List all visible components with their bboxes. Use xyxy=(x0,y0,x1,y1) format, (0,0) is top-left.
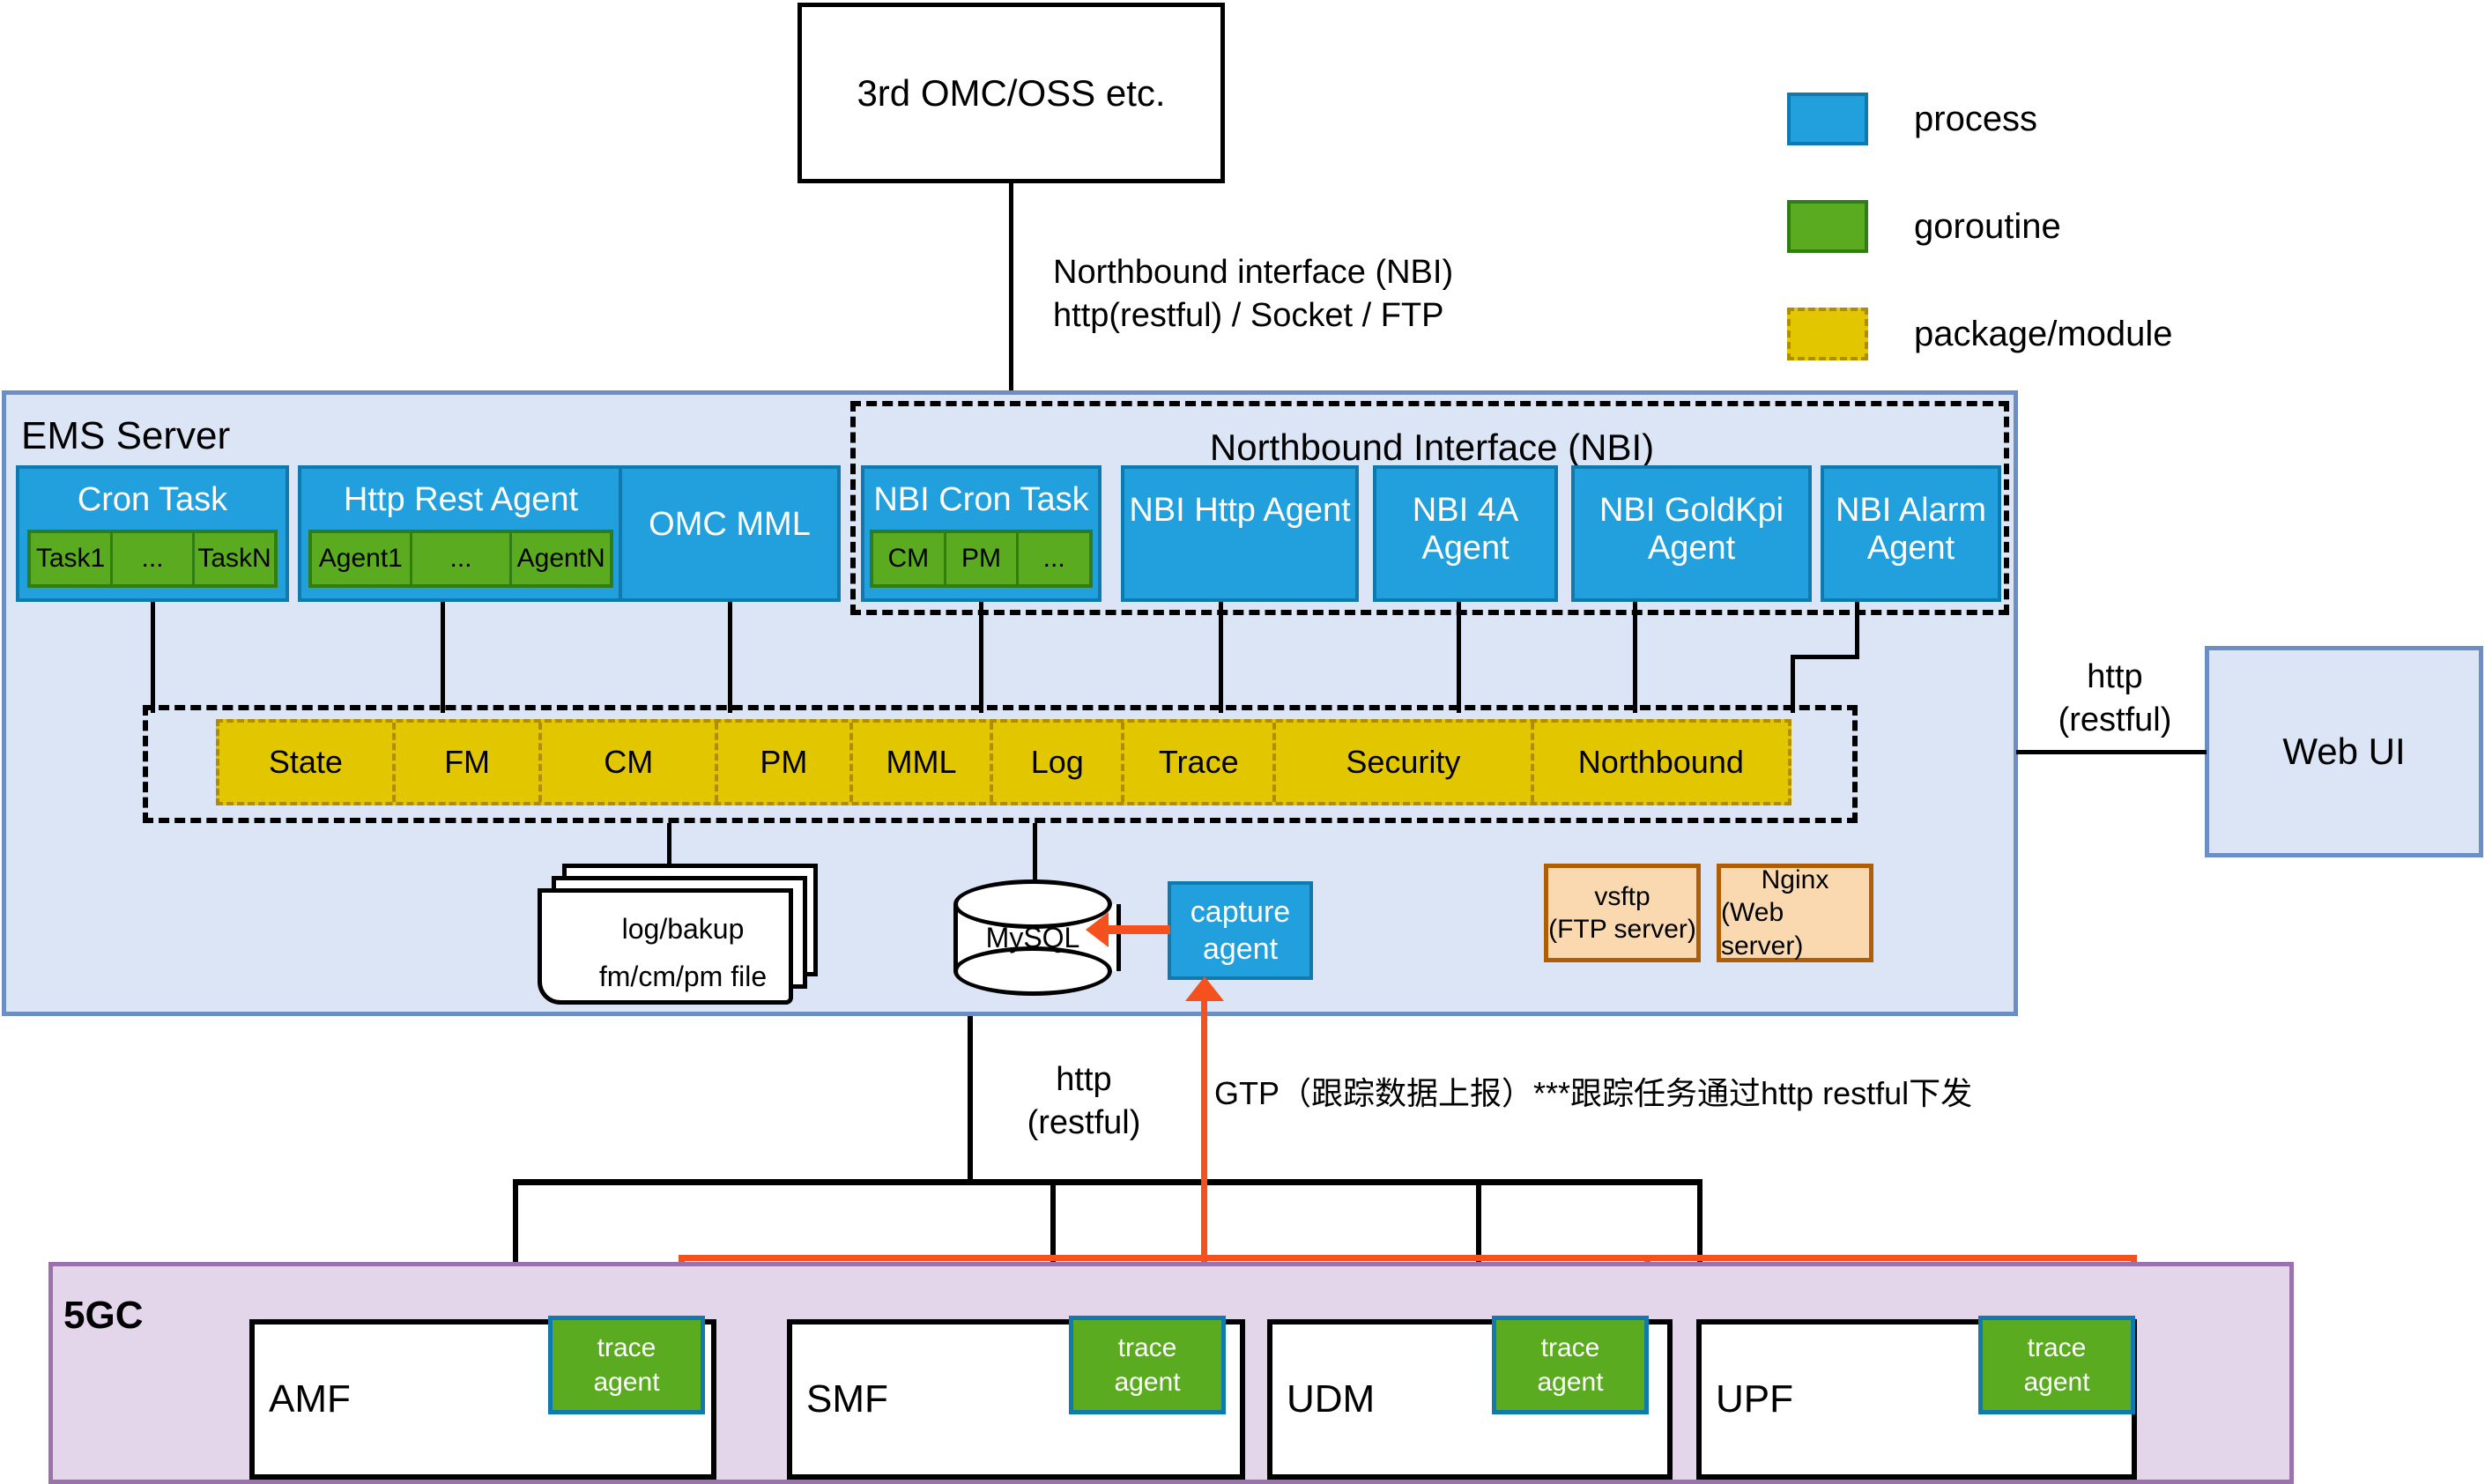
package-module-bar: State FM CM PM MML Log Trace Security No… xyxy=(216,719,1791,805)
network-function-upf-label: UPF xyxy=(1716,1377,1793,1421)
package-log[interactable]: Log xyxy=(993,723,1124,802)
web-ui-link-note: http (restful) xyxy=(2027,652,2203,746)
log-backup-file-stack: log/bakup fm/cm/pm file xyxy=(538,864,828,996)
goroutine-cell: CM xyxy=(873,533,946,584)
goroutine-strip-nbi-cron-task: CM PM ... xyxy=(870,530,1093,588)
third-party-oss-label: 3rd OMC/OSS etc. xyxy=(857,72,1165,115)
process-nbi-cron-task[interactable]: NBI Cron Task CM PM ... xyxy=(861,465,1102,602)
package-fm[interactable]: FM xyxy=(396,723,543,802)
connector-nbi-4a-agent-to-packages xyxy=(1457,602,1461,713)
network-function-smf-label: SMF xyxy=(806,1377,888,1421)
mysql-label: MySQL xyxy=(953,879,1112,996)
web-ui-link-line-2: (restful) xyxy=(2058,699,2172,742)
vsftp-line-2: (FTP server) xyxy=(1548,913,1696,946)
vsftp-line-1: vsftp xyxy=(1594,880,1650,914)
nbi-note-line-2: http(restful) / Socket / FTP xyxy=(1053,294,1670,338)
package-security[interactable]: Security xyxy=(1276,723,1533,802)
trace-agent-smf-line-2: agent xyxy=(1114,1365,1180,1399)
legend-swatch-goroutine-icon xyxy=(1787,200,1868,253)
connector-packages-to-mysql xyxy=(1033,823,1037,880)
process-http-rest-agent-label: Http Rest Agent xyxy=(301,469,620,519)
third-party-oss-box: 3rd OMC/OSS etc. xyxy=(797,3,1225,183)
gtp-orange-arrowhead xyxy=(1185,976,1224,1001)
trace-agent-amf[interactable]: trace agent xyxy=(548,1316,705,1414)
gtp-orange-trunk xyxy=(1201,996,1207,1260)
legend-label-package: package/module xyxy=(1914,315,2173,354)
process-nbi-goldkpi-agent-label: NBI GoldKpi Agent xyxy=(1575,469,1808,567)
legend-label-process: process xyxy=(1914,100,2037,139)
connector-cron-task-to-packages xyxy=(151,602,155,713)
goroutine-cell: AgentN xyxy=(512,533,610,584)
trace-agent-smf[interactable]: trace agent xyxy=(1069,1316,1226,1414)
package-state[interactable]: State xyxy=(219,723,396,802)
process-nbi-http-agent[interactable]: NBI Http Agent xyxy=(1121,465,1359,602)
legend-swatch-process-icon xyxy=(1787,93,1868,145)
connector-nbi-alarm-agent-horizontal xyxy=(1791,655,1859,659)
process-omc-mml-label: OMC MML xyxy=(622,469,837,544)
trace-agent-amf-line-2: agent xyxy=(593,1365,659,1399)
gtp-trace-note: GTP（跟踪数据上报）***跟踪任务通过http restful下发 xyxy=(1214,1068,2360,1114)
vsftp-server-box[interactable]: vsftp (FTP server) xyxy=(1544,864,1701,962)
legend-item-goroutine: goroutine xyxy=(1787,200,2173,253)
gtp-orange-horizontal-bus xyxy=(679,1255,2137,1261)
process-http-rest-agent[interactable]: Http Rest Agent Agent1 ... AgentN xyxy=(298,465,624,602)
nginx-server-box[interactable]: Nginx (Web server) xyxy=(1717,864,1873,962)
mysql-database-cylinder: MySQL xyxy=(953,879,1112,996)
capture-agent-line-1: capture xyxy=(1191,894,1290,931)
goroutine-cell: Task1 xyxy=(31,533,113,584)
process-nbi-alarm-agent-label: NBI Alarm Agent xyxy=(1824,469,1998,567)
trace-agent-smf-line-1: trace xyxy=(1118,1331,1177,1365)
nginx-line-1: Nginx xyxy=(1762,864,1829,897)
goroutine-strip-http-rest-agent: Agent1 ... AgentN xyxy=(308,530,613,588)
nbi-note-line-1: Northbound interface (NBI) xyxy=(1053,251,1670,294)
process-nbi-goldkpi-agent[interactable]: NBI GoldKpi Agent xyxy=(1571,465,1812,602)
goroutine-cell: ... xyxy=(412,533,513,584)
http-restful-line-1: http xyxy=(1056,1058,1111,1102)
goroutine-cell: ... xyxy=(1019,533,1089,584)
web-ui-label: Web UI xyxy=(2282,731,2405,773)
package-pm[interactable]: PM xyxy=(718,723,853,802)
connector-nbi-cron-task-to-packages xyxy=(979,602,983,713)
process-nbi-4a-agent-label: NBI 4A Agent xyxy=(1376,469,1554,567)
connector-ems-to-5gc-trunk xyxy=(968,1016,973,1183)
process-nbi-alarm-agent[interactable]: NBI Alarm Agent xyxy=(1821,465,2001,602)
trace-agent-udm[interactable]: trace agent xyxy=(1492,1316,1649,1414)
legend: process goroutine package/module xyxy=(1787,93,2173,360)
network-function-amf-label: AMF xyxy=(269,1377,351,1421)
goroutine-cell: PM xyxy=(946,533,1020,584)
capture-agent-line-2: agent xyxy=(1203,931,1278,968)
package-northbound[interactable]: Northbound xyxy=(1534,723,1788,802)
connector-http-rest-agent-to-packages xyxy=(441,602,445,713)
connector-ems-to-web-ui xyxy=(2016,750,2207,754)
connector-omc-mml-to-packages xyxy=(728,602,732,713)
trace-agent-udm-line-2: agent xyxy=(1537,1365,1603,1399)
http-restful-line-2: (restful) xyxy=(1027,1102,1141,1145)
connector-nbi-alarm-agent-vertical-upper xyxy=(1855,602,1859,659)
process-cron-task-label: Cron Task xyxy=(19,469,286,519)
web-ui-link-line-1: http xyxy=(2087,656,2142,699)
goroutine-strip-cron-task: Task1 ... TaskN xyxy=(27,530,278,588)
connector-5gc-horizontal-bus xyxy=(513,1179,1702,1185)
legend-item-package: package/module xyxy=(1787,308,2173,360)
legend-item-process: process xyxy=(1787,93,2173,145)
network-function-udm-label: UDM xyxy=(1287,1377,1375,1421)
gc-5g-core-title: 5GC xyxy=(63,1294,143,1338)
legend-label-goroutine: goroutine xyxy=(1914,207,2061,247)
package-mml[interactable]: MML xyxy=(853,723,994,802)
process-omc-mml[interactable]: OMC MML xyxy=(619,465,841,602)
trace-agent-udm-line-1: trace xyxy=(1541,1331,1600,1365)
process-nbi-4a-agent[interactable]: NBI 4A Agent xyxy=(1373,465,1558,602)
goroutine-cell: TaskN xyxy=(195,533,274,584)
legend-swatch-package-icon xyxy=(1787,308,1868,360)
process-nbi-cron-task-label: NBI Cron Task xyxy=(864,469,1098,519)
http-restful-note: http (restful) xyxy=(987,1053,1181,1150)
process-nbi-http-agent-label: NBI Http Agent xyxy=(1124,469,1355,530)
process-cron-task[interactable]: Cron Task Task1 ... TaskN xyxy=(16,465,289,602)
file-label-line-2: fm/cm/pm file xyxy=(538,961,828,993)
trace-agent-amf-line-1: trace xyxy=(597,1331,656,1365)
trace-agent-upf-line-2: agent xyxy=(2023,1365,2089,1399)
connector-nbi-http-agent-to-packages xyxy=(1219,602,1223,713)
ems-server-title: EMS Server xyxy=(21,414,230,458)
web-ui-box[interactable]: Web UI xyxy=(2205,646,2483,857)
connector-nbi-goldkpi-agent-to-packages xyxy=(1633,602,1637,713)
goroutine-cell: Agent1 xyxy=(312,533,412,584)
nginx-line-2: (Web server) xyxy=(1721,896,1869,962)
nbi-group-title: Northbound Interface (NBI) xyxy=(925,427,1939,468)
capture-agent-box[interactable]: capture agent xyxy=(1168,881,1313,980)
trace-agent-upf-line-1: trace xyxy=(2028,1331,2087,1365)
goroutine-cell: ... xyxy=(113,533,195,584)
package-cm[interactable]: CM xyxy=(542,723,718,802)
package-trace[interactable]: Trace xyxy=(1124,723,1276,802)
arrow-capture-to-mysql-shaft xyxy=(1103,925,1170,934)
nbi-interface-note: Northbound interface (NBI) http(restful)… xyxy=(1053,251,1670,338)
file-label-line-1: log/bakup xyxy=(538,913,828,946)
trace-agent-upf[interactable]: trace agent xyxy=(1978,1316,2135,1414)
connector-oss-to-ems xyxy=(1009,183,1013,395)
